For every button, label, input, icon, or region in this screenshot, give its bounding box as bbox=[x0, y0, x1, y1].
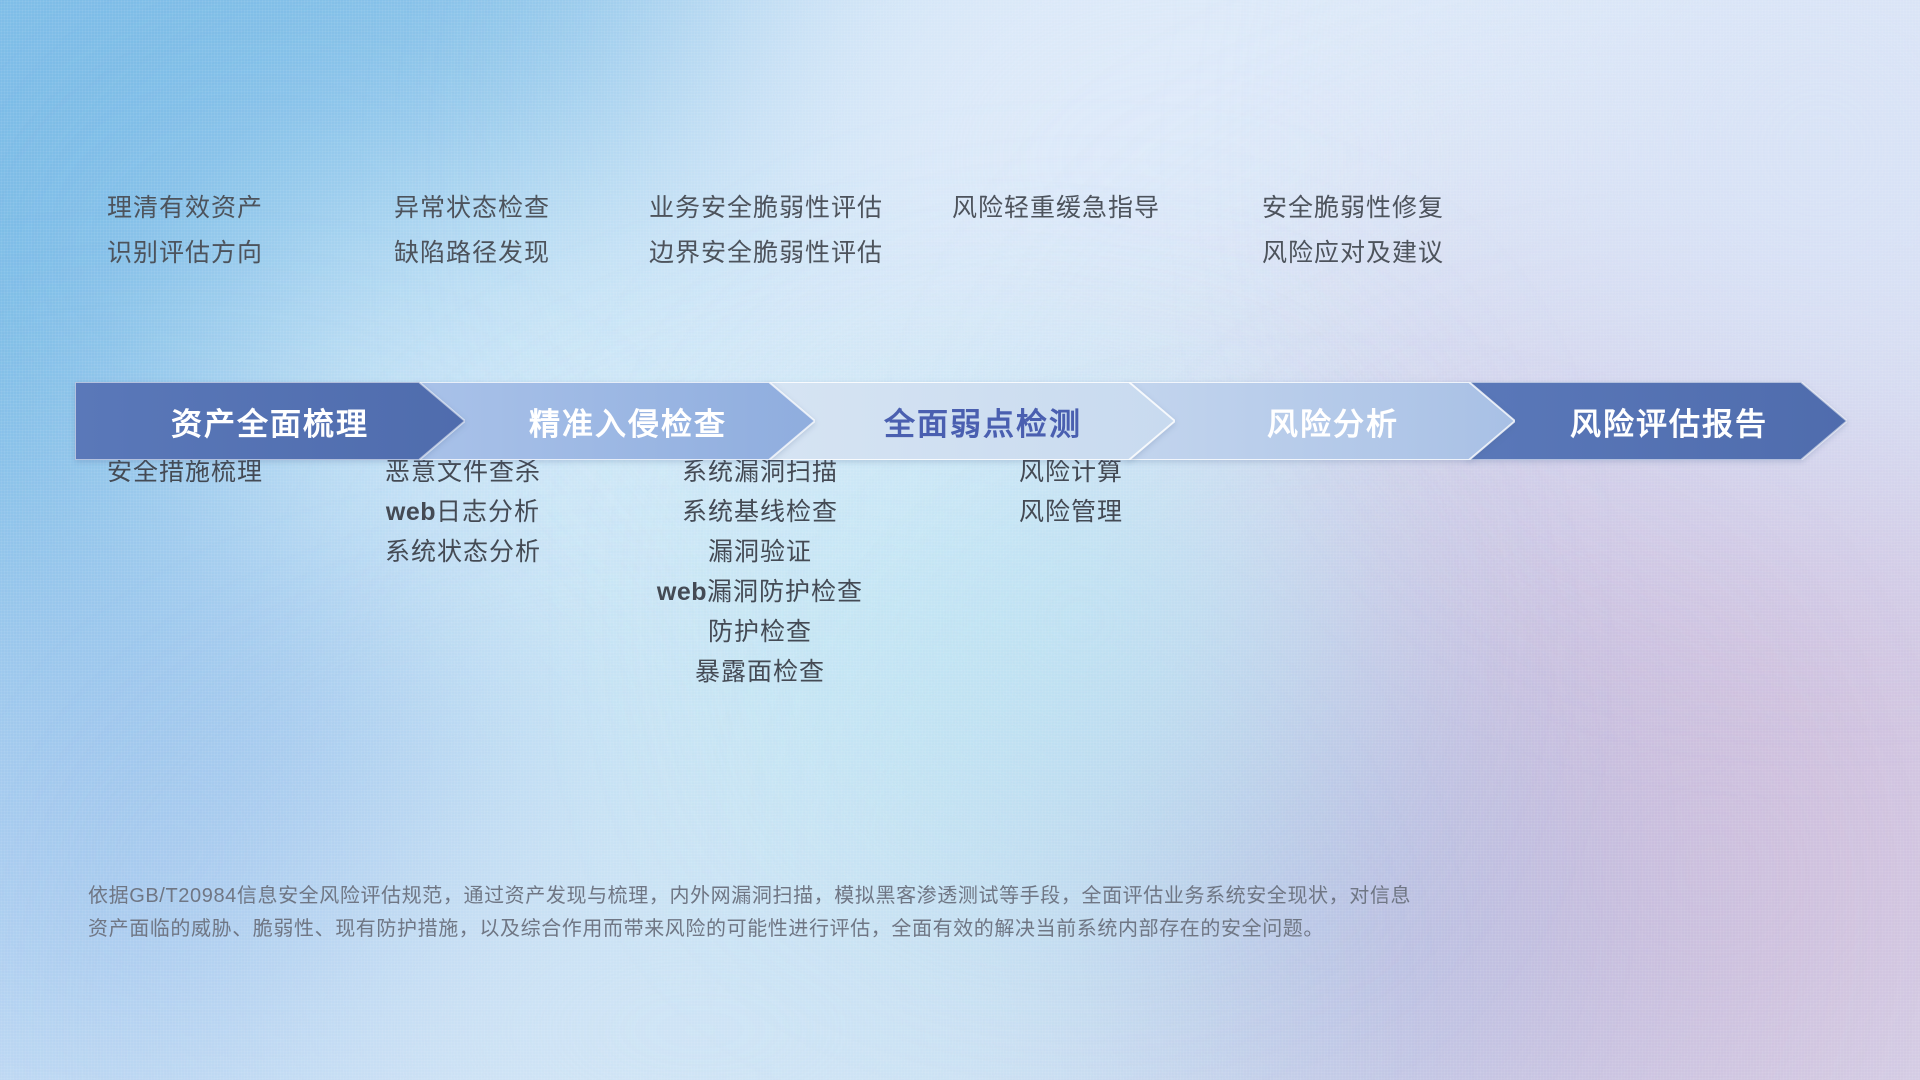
activity-term-rest: 漏洞防护检查 bbox=[707, 578, 863, 606]
bottom-activity-item: 漏洞验证 bbox=[500, 532, 1020, 572]
bottom-activity-item: web漏洞防护检查 bbox=[500, 572, 1020, 612]
footer-description: 依据GB/T20984信息安全风险评估规范，通过资产发现与梳理，内外网漏洞扫描，… bbox=[88, 880, 1578, 946]
process-stage-arrow-weakness-detection[interactable]: 全面弱点检测 bbox=[765, 382, 1175, 460]
bottom-activity-item: 风险管理 bbox=[811, 492, 1331, 532]
activity-term-bold: web bbox=[386, 498, 436, 526]
process-stage-label: 精准入侵检查 bbox=[503, 399, 727, 444]
process-stage-label: 风险分析 bbox=[1241, 399, 1399, 444]
process-stage-label: 全面弱点检测 bbox=[858, 399, 1082, 444]
activity-term-bold: web bbox=[657, 578, 707, 606]
bottom-activity-item: 防护检查 bbox=[500, 612, 1020, 652]
process-stage-label: 资产全面梳理 bbox=[171, 399, 369, 444]
process-stage-arrow-risk-analysis[interactable]: 风险分析 bbox=[1125, 382, 1515, 460]
top-outcome-group-risk-report: 安全脆弱性修复风险应对及建议 bbox=[1093, 186, 1613, 276]
process-stage-label: 风险评估报告 bbox=[1544, 399, 1768, 444]
top-outcome-item: 边界安全脆弱性评估 bbox=[506, 231, 1026, 276]
top-outcome-item: 安全脆弱性修复 bbox=[1093, 186, 1613, 231]
top-outcome-item: 风险应对及建议 bbox=[1093, 231, 1613, 276]
process-stage-arrow-risk-report[interactable]: 风险评估报告 bbox=[1465, 382, 1847, 460]
process-arrow-band: 资产全面梳理精准入侵检查全面弱点检测风险分析风险评估报告 bbox=[75, 382, 1847, 460]
process-diagram: 理清有效资产识别评估方向异常状态检查缺陷路径发现业务安全脆弱性评估边界安全脆弱性… bbox=[0, 0, 1920, 1080]
bottom-activity-item: 暴露面检查 bbox=[500, 652, 1020, 692]
process-stage-arrow-asset-inventory[interactable]: 资产全面梳理 bbox=[75, 382, 465, 460]
footer-line-1: 依据GB/T20984信息安全风险评估规范，通过资产发现与梳理，内外网漏洞扫描，… bbox=[88, 880, 1578, 913]
footer-line-2: 资产面临的威胁、脆弱性、现有防护措施，以及综合作用而带来风险的可能性进行评估，全… bbox=[88, 913, 1578, 946]
process-stage-arrow-intrusion-check[interactable]: 精准入侵检查 bbox=[415, 382, 815, 460]
